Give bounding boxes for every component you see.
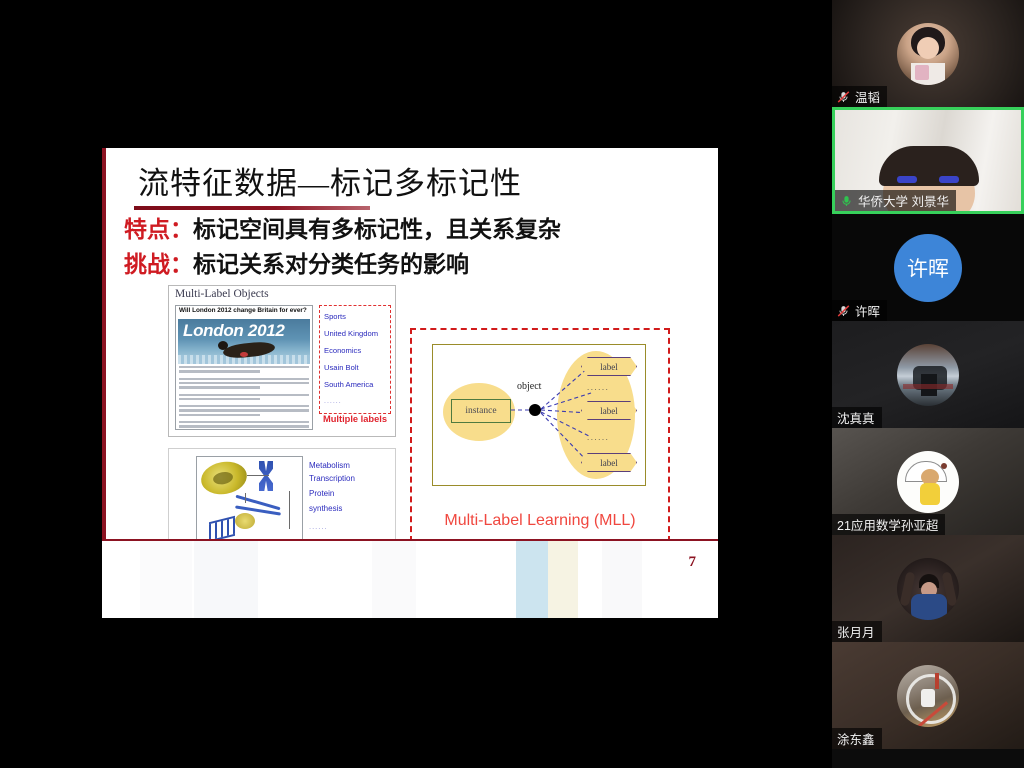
cell-illustration bbox=[199, 458, 250, 498]
video-hair bbox=[879, 146, 979, 186]
text-line bbox=[179, 366, 309, 368]
title-underline-rule bbox=[134, 206, 370, 210]
footer-stripe bbox=[140, 541, 192, 618]
mic-on-icon bbox=[840, 194, 853, 208]
participant-name-2: 许晖 bbox=[855, 301, 880, 320]
text-line bbox=[179, 370, 260, 372]
text-line bbox=[179, 414, 260, 416]
mll-diagram: instance object label label label ......… bbox=[432, 344, 646, 486]
instance-node: instance bbox=[451, 399, 511, 423]
figure-multi-label-objects: Multi-Label Objects Will London 2012 cha… bbox=[168, 285, 396, 437]
footer-stripe bbox=[548, 541, 578, 618]
dna-bubble bbox=[235, 513, 255, 529]
label-ellipsis-top: ...... bbox=[587, 383, 609, 392]
participant-tile-6[interactable]: 涂东鑫 bbox=[832, 642, 1024, 749]
shared-screen-stage: 流特征数据—标记多标记性 特点：标记空间具有多标记性，且关系复杂 挑战：标记关系… bbox=[0, 0, 832, 768]
participant-name-0: 温韬 bbox=[855, 87, 880, 106]
participant-name-5: 张月月 bbox=[837, 622, 875, 641]
participant-tile-4[interactable]: 21应用数学孙亚超 bbox=[832, 428, 1024, 535]
avatar bbox=[897, 558, 959, 620]
text-line bbox=[179, 382, 309, 384]
news-headline: Will London 2012 change Britain for ever… bbox=[179, 307, 307, 314]
label-node-0-text: label bbox=[600, 362, 618, 372]
participant-name-4: 21应用数学孙亚超 bbox=[837, 515, 938, 534]
participant-tile-5[interactable]: 张月月 bbox=[832, 535, 1024, 642]
video-eye-left bbox=[897, 176, 917, 183]
biology-label-list: Metabolism Transcription Protein synthes… bbox=[309, 459, 393, 533]
avatar bbox=[897, 451, 959, 513]
bullet-label-1: 挑战： bbox=[124, 251, 193, 277]
bullet-row-1: 挑战：标记关系对分类任务的影响 bbox=[124, 253, 469, 276]
text-line bbox=[179, 425, 309, 427]
participant-name-3: 沈真真 bbox=[837, 408, 875, 427]
leader-line bbox=[289, 491, 290, 529]
mll-caption: Multi-Label Learning (MLL) bbox=[412, 512, 668, 530]
text-line bbox=[179, 421, 309, 423]
participant-tile-3[interactable]: 沈真真 bbox=[832, 321, 1024, 428]
meeting-screenshare-window: 流特征数据—标记多标记性 特点：标记空间具有多标记性，且关系复杂 挑战：标记关系… bbox=[0, 0, 1024, 768]
participant-sidebar[interactable]: 温韬 华侨大学 刘景华 bbox=[832, 0, 1024, 768]
participant-tile-1[interactable]: 华侨大学 刘景华 bbox=[832, 107, 1024, 214]
label-ellipsis-bottom: ...... bbox=[587, 433, 609, 442]
avatar bbox=[897, 665, 959, 727]
participant-tile-0[interactable]: 温韬 bbox=[832, 0, 1024, 107]
bullet-row-0: 特点：标记空间具有多标记性，且关系复杂 bbox=[124, 218, 561, 241]
label-node-2: label bbox=[581, 453, 637, 472]
text-line bbox=[179, 394, 309, 396]
avatar-initials-text: 许晖 bbox=[907, 253, 949, 283]
chromosome-illustration bbox=[259, 461, 273, 491]
news-article-thumbnail: Will London 2012 change Britain for ever… bbox=[175, 305, 313, 430]
object-label-3: Usain Bolt bbox=[324, 363, 359, 372]
participant-nameplate-5: 张月月 bbox=[832, 621, 882, 642]
footer-stripe bbox=[602, 541, 642, 618]
bullet-label-0: 特点： bbox=[124, 216, 193, 242]
bullet-text-1: 标记关系对分类任务的影响 bbox=[193, 251, 469, 277]
label-node-0: label bbox=[581, 357, 637, 376]
avatar-initials: 许晖 bbox=[894, 234, 962, 302]
bio-label-1: Transcription bbox=[309, 472, 393, 485]
news-body-text-lines bbox=[179, 366, 309, 427]
text-line bbox=[179, 409, 309, 411]
participant-nameplate-4: 21应用数学孙亚超 bbox=[832, 514, 945, 535]
text-line bbox=[179, 378, 309, 380]
swimmer-cap bbox=[240, 352, 248, 357]
biology-diagram-image bbox=[196, 456, 303, 546]
multiple-labels-annotation: Multiple labels bbox=[319, 414, 391, 425]
object-label-ellipsis: ...... bbox=[324, 398, 342, 405]
bio-label-0: Metabolism bbox=[309, 459, 393, 472]
label-node-1: label bbox=[581, 401, 637, 420]
object-label-4: South America bbox=[324, 380, 373, 389]
object-node-label: object bbox=[517, 381, 541, 392]
participant-nameplate-3: 沈真真 bbox=[832, 407, 882, 428]
object-label-0: Sports bbox=[324, 312, 346, 321]
multi-label-list-box: Sports United Kingdom Economics Usain Bo… bbox=[319, 305, 391, 414]
object-node-dot bbox=[529, 404, 541, 416]
text-line bbox=[179, 405, 309, 407]
slide-footer-band bbox=[102, 541, 718, 618]
avatar bbox=[897, 23, 959, 85]
participant-name-1: 华侨大学 刘景华 bbox=[858, 191, 949, 210]
text-line bbox=[179, 386, 260, 388]
figure-multi-label-learning: instance object label label label ......… bbox=[410, 328, 670, 542]
dna-helix-illustration bbox=[205, 495, 293, 541]
video-eye-right bbox=[939, 176, 959, 183]
bio-label-ellipsis: ...... bbox=[309, 520, 393, 533]
label-node-1-text: label bbox=[600, 406, 618, 416]
presentation-slide: 流特征数据—标记多标记性 特点：标记空间具有多标记性，且关系复杂 挑战：标记关系… bbox=[102, 148, 718, 618]
object-label-1: United Kingdom bbox=[324, 329, 378, 338]
footer-stripe bbox=[516, 541, 548, 618]
footer-stripe bbox=[372, 541, 416, 618]
instance-label: instance bbox=[465, 406, 496, 416]
participant-nameplate-6: 涂东鑫 bbox=[832, 728, 882, 749]
bio-label-2a: Protein bbox=[309, 489, 393, 500]
swimmer-head bbox=[218, 341, 228, 350]
slide-page-number: 7 bbox=[689, 554, 697, 571]
slide-title: 流特征数据—标记多标记性 bbox=[138, 158, 522, 203]
object-label-2: Economics bbox=[324, 346, 361, 355]
news-banner-text: London 2012 bbox=[183, 321, 285, 341]
participant-nameplate-1: 华侨大学 刘景华 bbox=[835, 190, 956, 211]
mic-muted-icon bbox=[837, 304, 850, 318]
text-line bbox=[179, 398, 260, 400]
participant-tile-2[interactable]: 许晖 许晖 bbox=[832, 214, 1024, 321]
news-photo: London 2012 bbox=[178, 319, 310, 364]
avatar bbox=[897, 344, 959, 406]
bullet-text-0: 标记空间具有多标记性，且关系复杂 bbox=[193, 216, 561, 242]
label-node-2-text: label bbox=[600, 458, 618, 468]
footer-stripe bbox=[194, 541, 258, 618]
news-headline-bar: Will London 2012 change Britain for ever… bbox=[176, 306, 312, 318]
mic-muted-icon bbox=[837, 90, 850, 104]
participant-nameplate-0: 温韬 bbox=[832, 86, 887, 107]
figure-objects-caption: Multi-Label Objects bbox=[175, 288, 269, 300]
participant-name-6: 涂东鑫 bbox=[837, 729, 875, 748]
participant-nameplate-2: 许晖 bbox=[832, 300, 887, 321]
bio-label-2b: synthesis bbox=[309, 504, 393, 515]
leader-line bbox=[245, 493, 246, 503]
leader-line bbox=[247, 475, 269, 476]
nucleus bbox=[212, 471, 234, 486]
